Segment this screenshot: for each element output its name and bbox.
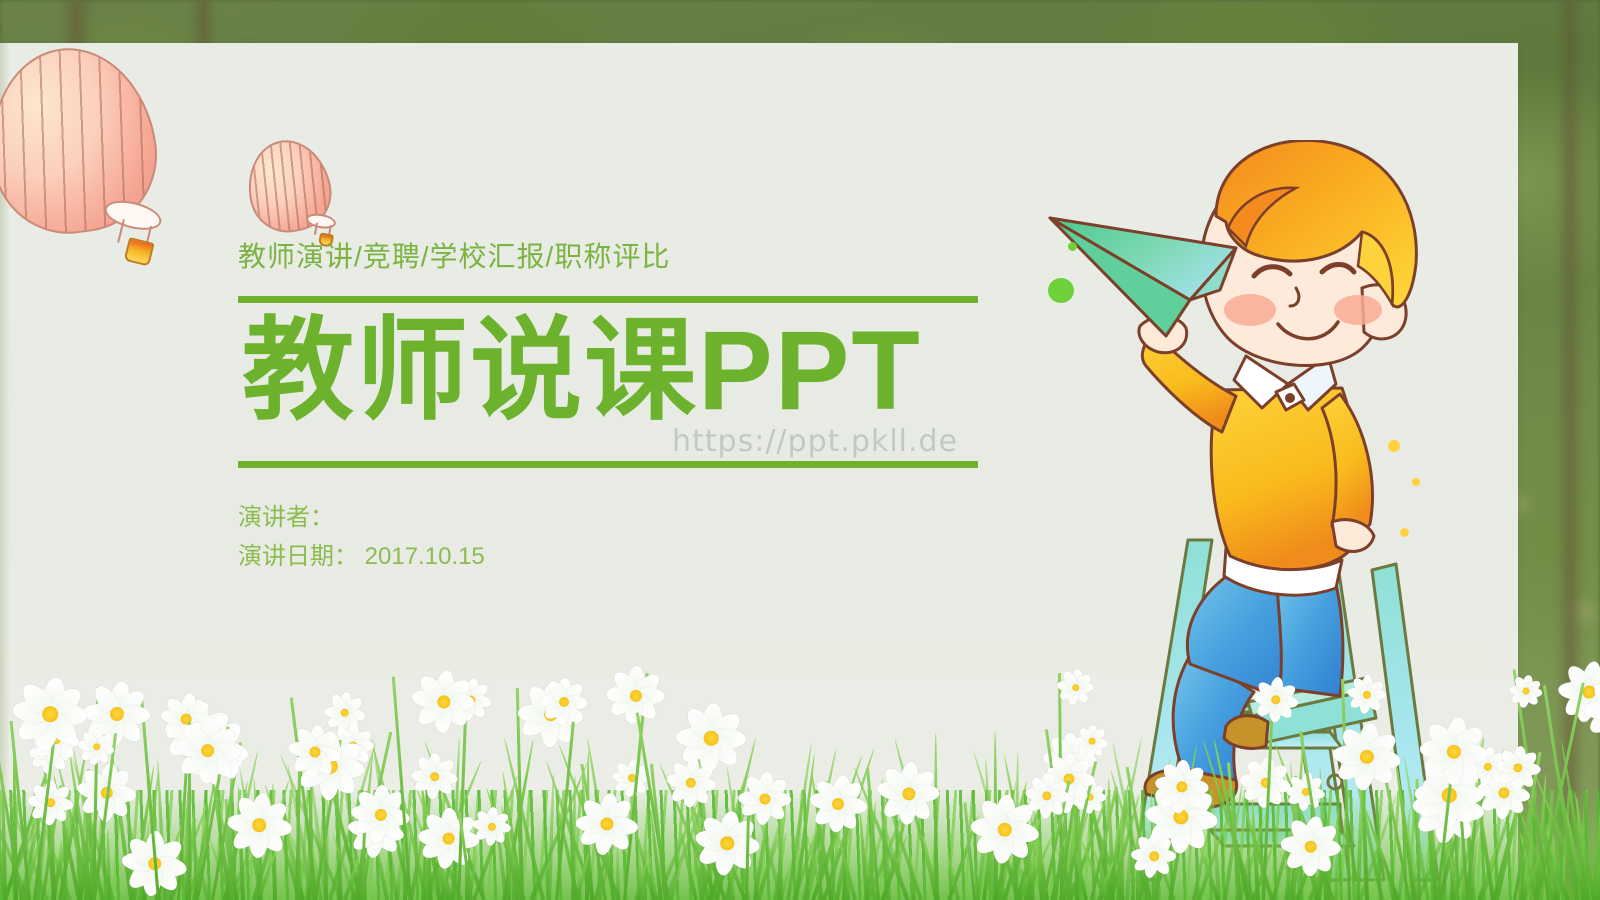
daisy-flower bbox=[476, 811, 507, 842]
flower-center bbox=[1304, 840, 1317, 853]
daisy-flower bbox=[1290, 776, 1321, 807]
flower-center bbox=[340, 708, 349, 717]
flower-center bbox=[430, 772, 440, 782]
grass-blade bbox=[934, 733, 938, 900]
daisy-flower bbox=[671, 763, 711, 803]
daisy-flower bbox=[1029, 778, 1065, 814]
speaker-label: 演讲者： bbox=[238, 498, 978, 538]
hot-air-balloon-icon bbox=[0, 37, 167, 243]
daisy-flower bbox=[1591, 683, 1600, 737]
daisy-flower bbox=[883, 768, 934, 819]
divider-top bbox=[238, 296, 978, 303]
paint-splatter bbox=[1400, 528, 1409, 537]
flower-meadow bbox=[0, 600, 1600, 900]
daisy-flower bbox=[1257, 681, 1294, 718]
daisy-flower bbox=[293, 730, 336, 773]
daisy-flower bbox=[616, 762, 647, 793]
daisy-flower bbox=[582, 799, 632, 849]
daisy-flower bbox=[1339, 729, 1394, 784]
flower-center bbox=[201, 744, 215, 758]
daisy-flower bbox=[416, 758, 453, 795]
daisy-flower bbox=[1136, 838, 1172, 874]
flower-center bbox=[704, 731, 719, 746]
daisy-flower bbox=[357, 791, 404, 838]
daisy-flower bbox=[233, 799, 285, 851]
flower-center bbox=[832, 798, 844, 810]
daisy-flower bbox=[418, 676, 469, 727]
daisy-flower bbox=[545, 683, 583, 721]
page-title: 教师说课PPT bbox=[242, 305, 978, 437]
flower-center bbox=[559, 697, 569, 707]
daisy-flower bbox=[1513, 678, 1539, 704]
flower-center bbox=[93, 743, 101, 751]
slide-subtitle: 教师演讲/竞聘/学校汇报/职称评比 bbox=[238, 240, 978, 274]
daisy-flower bbox=[1245, 762, 1286, 803]
flower-center bbox=[1089, 738, 1096, 745]
paint-splatter bbox=[1068, 242, 1077, 251]
daisy-flower bbox=[82, 732, 111, 761]
title-block: 教师演讲/竞聘/学校汇报/职称评比 教师说课PPT 演讲者： 演讲日期： 201… bbox=[238, 240, 978, 577]
daisy-flower bbox=[1426, 724, 1481, 779]
daisy-flower bbox=[20, 684, 80, 744]
presenter-meta: 演讲者： 演讲日期： 2017.10.15 bbox=[238, 498, 978, 577]
daisy-flower bbox=[815, 781, 861, 827]
slide-canvas: 教师演讲/竞聘/学校汇报/职称评比 教师说课PPT 演讲者： 演讲日期： 201… bbox=[0, 0, 1600, 900]
daisy-flower bbox=[977, 802, 1032, 857]
flower-center bbox=[1523, 688, 1530, 695]
flower-center bbox=[1072, 684, 1080, 692]
daisy-flower bbox=[32, 784, 69, 821]
date-label: 演讲日期： 2017.10.15 bbox=[238, 537, 978, 577]
flower-center bbox=[252, 818, 266, 832]
flower-center bbox=[720, 836, 734, 850]
paint-splatter bbox=[1388, 440, 1400, 452]
flower-center bbox=[1271, 695, 1281, 705]
flower-center bbox=[1149, 851, 1159, 861]
paint-splatter bbox=[1412, 478, 1420, 486]
divider-bottom bbox=[238, 461, 978, 468]
daisy-flower bbox=[1286, 822, 1335, 871]
daisy-flower bbox=[1160, 765, 1203, 808]
daisy-flower bbox=[743, 777, 786, 820]
flower-center bbox=[110, 707, 124, 721]
flower-center bbox=[42, 706, 58, 722]
daisy-flower bbox=[1061, 673, 1090, 702]
flower-center bbox=[442, 832, 455, 845]
daisy-flower bbox=[181, 724, 234, 777]
watermark-text: https://ppt.pkll.de bbox=[672, 424, 958, 459]
daisy-flower bbox=[1351, 679, 1382, 710]
daisy-flower bbox=[1500, 750, 1536, 786]
daisy-flower bbox=[1079, 728, 1105, 754]
paint-splatter bbox=[1048, 278, 1074, 303]
